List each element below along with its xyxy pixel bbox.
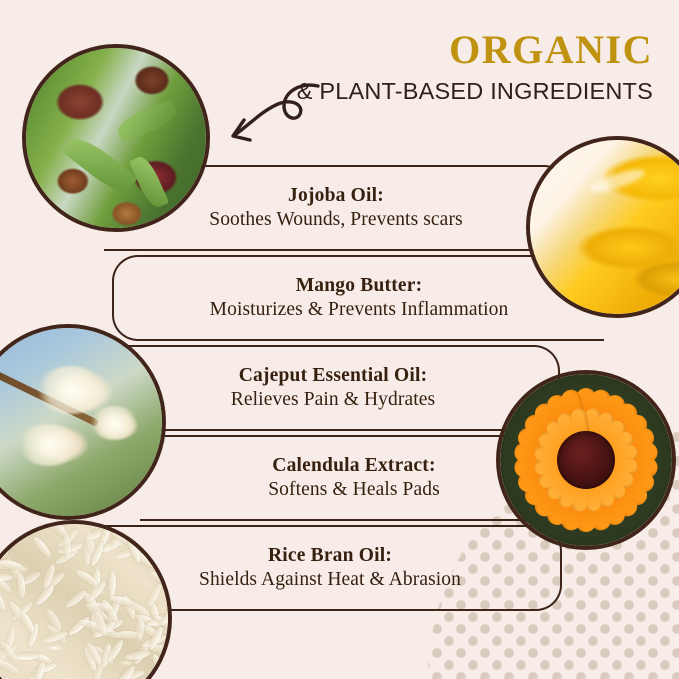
photo-image [26,48,206,228]
highlight-shape [587,165,646,196]
rice-grain [30,534,53,559]
photo-image [0,328,162,516]
flower-cluster [36,366,106,414]
ingredient-description: Shields Against Heat & Abrasion [100,569,560,591]
ingredient-row-cajeput: Cajeput Essential Oil: Relieves Pain & H… [108,345,560,431]
page-title: ORGANIC [233,30,653,70]
ingredient-description: Relieves Pain & Hydrates [108,389,558,411]
rice-grain [23,524,50,533]
calendula-flower-photo [496,370,676,550]
leaf-shape [62,131,138,198]
photo-image [530,140,679,314]
flower-center [557,431,615,489]
ingredient-row-mango-butter: Mango Butter: Moisturizes & Prevents Inf… [112,255,604,341]
photo-image [500,374,672,546]
rice-grain [0,573,13,581]
curly-arrow-icon [222,80,326,160]
rice-grain [135,615,144,641]
ingredient-description: Soothes Wounds, Prevents scars [104,209,568,231]
rice-grain [107,571,116,597]
ingredient-name: Cajeput Essential Oil: [108,365,558,387]
ingredient-name: Rice Bran Oil: [100,545,560,567]
rice-grains-photo [0,520,172,679]
ingredient-description: Moisturizes & Prevents Inflammation [114,299,604,321]
ingredients-infographic: ORGANIC & PLANT-BASED INGREDIENTS Jojoba… [0,0,679,679]
leaf-shape [114,99,180,143]
flower-cluster [18,424,80,466]
jojoba-plant-photo [22,44,210,232]
flower-cluster [90,406,138,440]
ingredient-name: Mango Butter: [114,275,604,297]
photo-image [0,524,168,679]
